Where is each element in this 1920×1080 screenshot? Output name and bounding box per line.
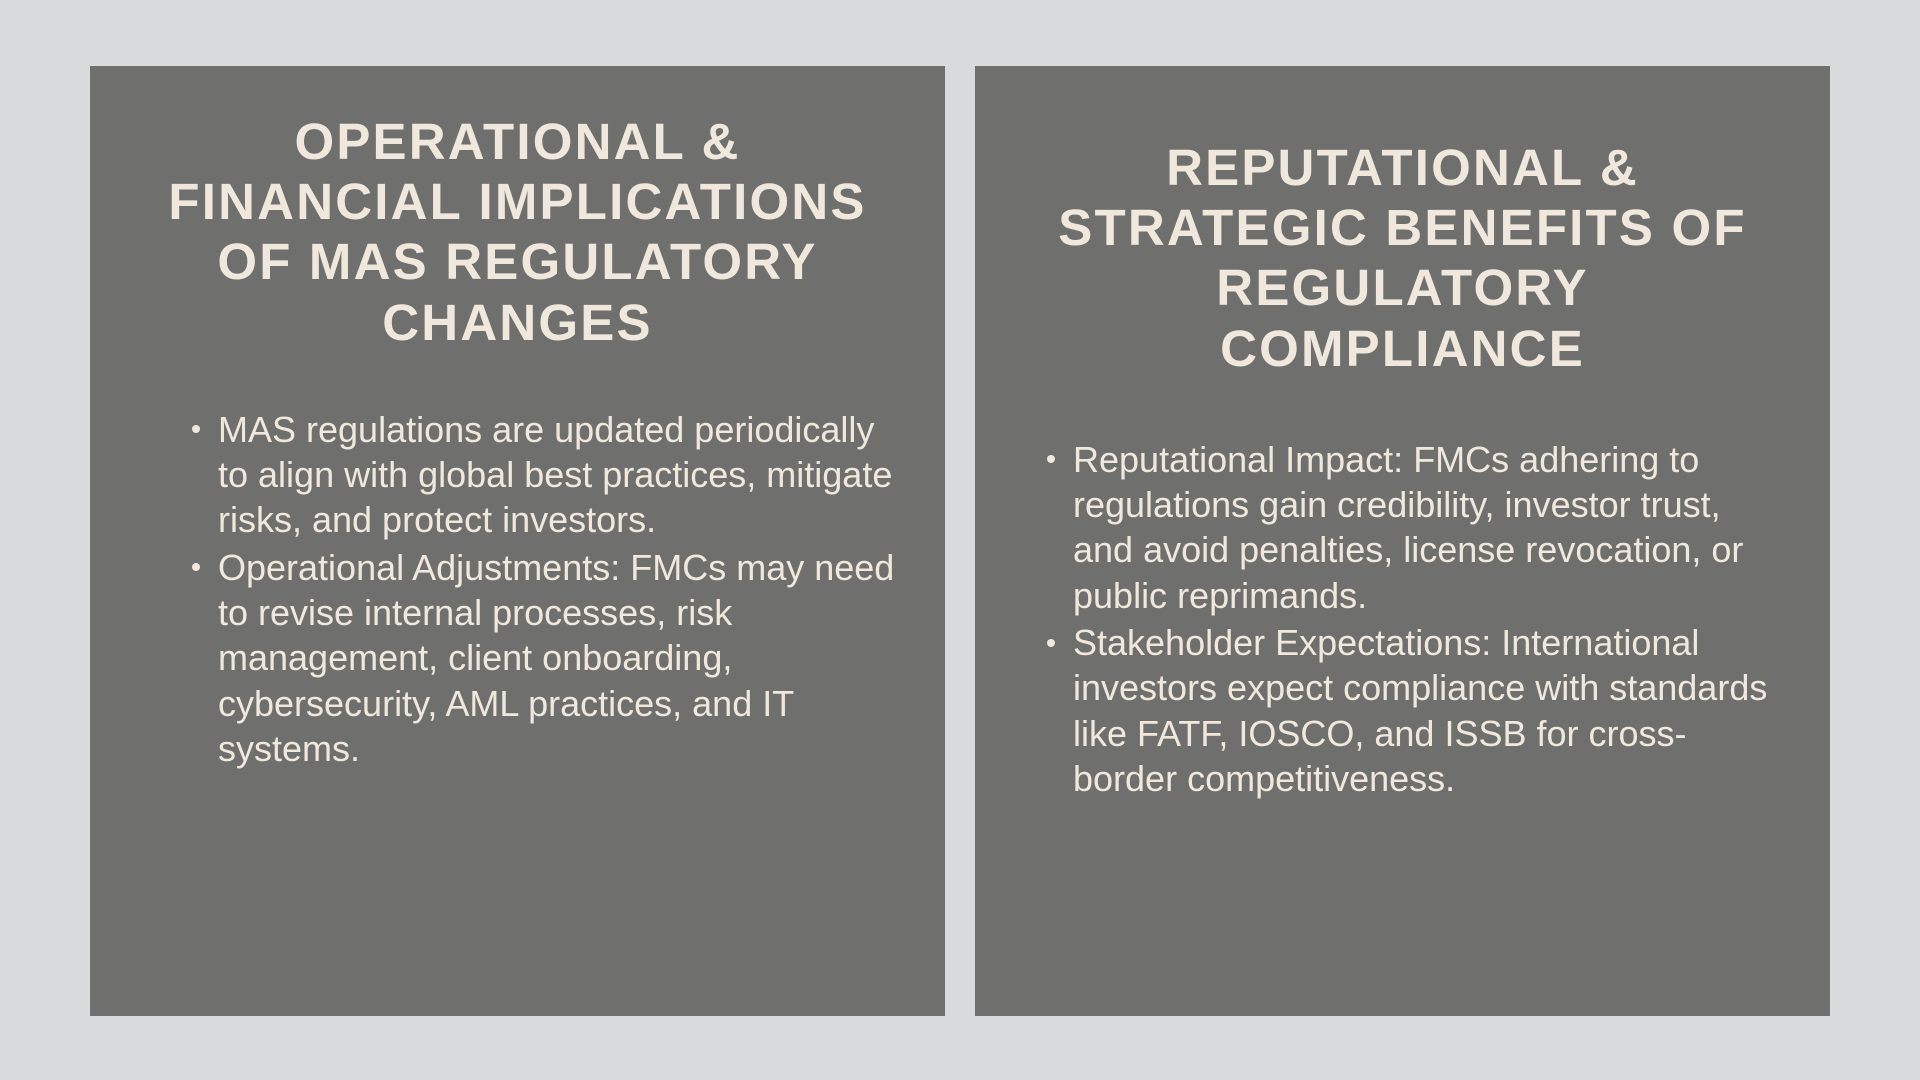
bullet-text: Operational Adjustments: FMCs may need t… <box>218 545 901 772</box>
bullet-dot-icon <box>192 425 200 433</box>
list-item: Operational Adjustments: FMCs may need t… <box>192 545 901 772</box>
list-item: Stakeholder Expectations: International … <box>1047 620 1786 801</box>
card-operational-financial: Operational & Financial Implications of … <box>90 66 945 1016</box>
bullet-list-reputational-strategic: Reputational Impact: FMCs adhering to re… <box>1019 437 1786 804</box>
card-reputational-strategic: Reputational & Strategic Benefits of Reg… <box>975 66 1830 1016</box>
bullet-text: MAS regulations are updated periodically… <box>218 407 901 543</box>
bullet-list-operational-financial: MAS regulations are updated periodically… <box>134 407 901 774</box>
card-title-reputational-strategic: Reputational & Strategic Benefits of Reg… <box>1019 138 1786 379</box>
list-item: Reputational Impact: FMCs adhering to re… <box>1047 437 1786 618</box>
card-title-operational-financial: Operational & Financial Implications of … <box>134 112 901 353</box>
card-row: Operational & Financial Implications of … <box>90 66 1830 1016</box>
bullet-text: Reputational Impact: FMCs adhering to re… <box>1073 437 1786 618</box>
slide-canvas: Operational & Financial Implications of … <box>0 0 1920 1080</box>
bullet-dot-icon <box>1047 639 1055 647</box>
bullet-text: Stakeholder Expectations: International … <box>1073 620 1786 801</box>
bullet-dot-icon <box>192 563 200 571</box>
list-item: MAS regulations are updated periodically… <box>192 407 901 543</box>
bullet-dot-icon <box>1047 455 1055 463</box>
